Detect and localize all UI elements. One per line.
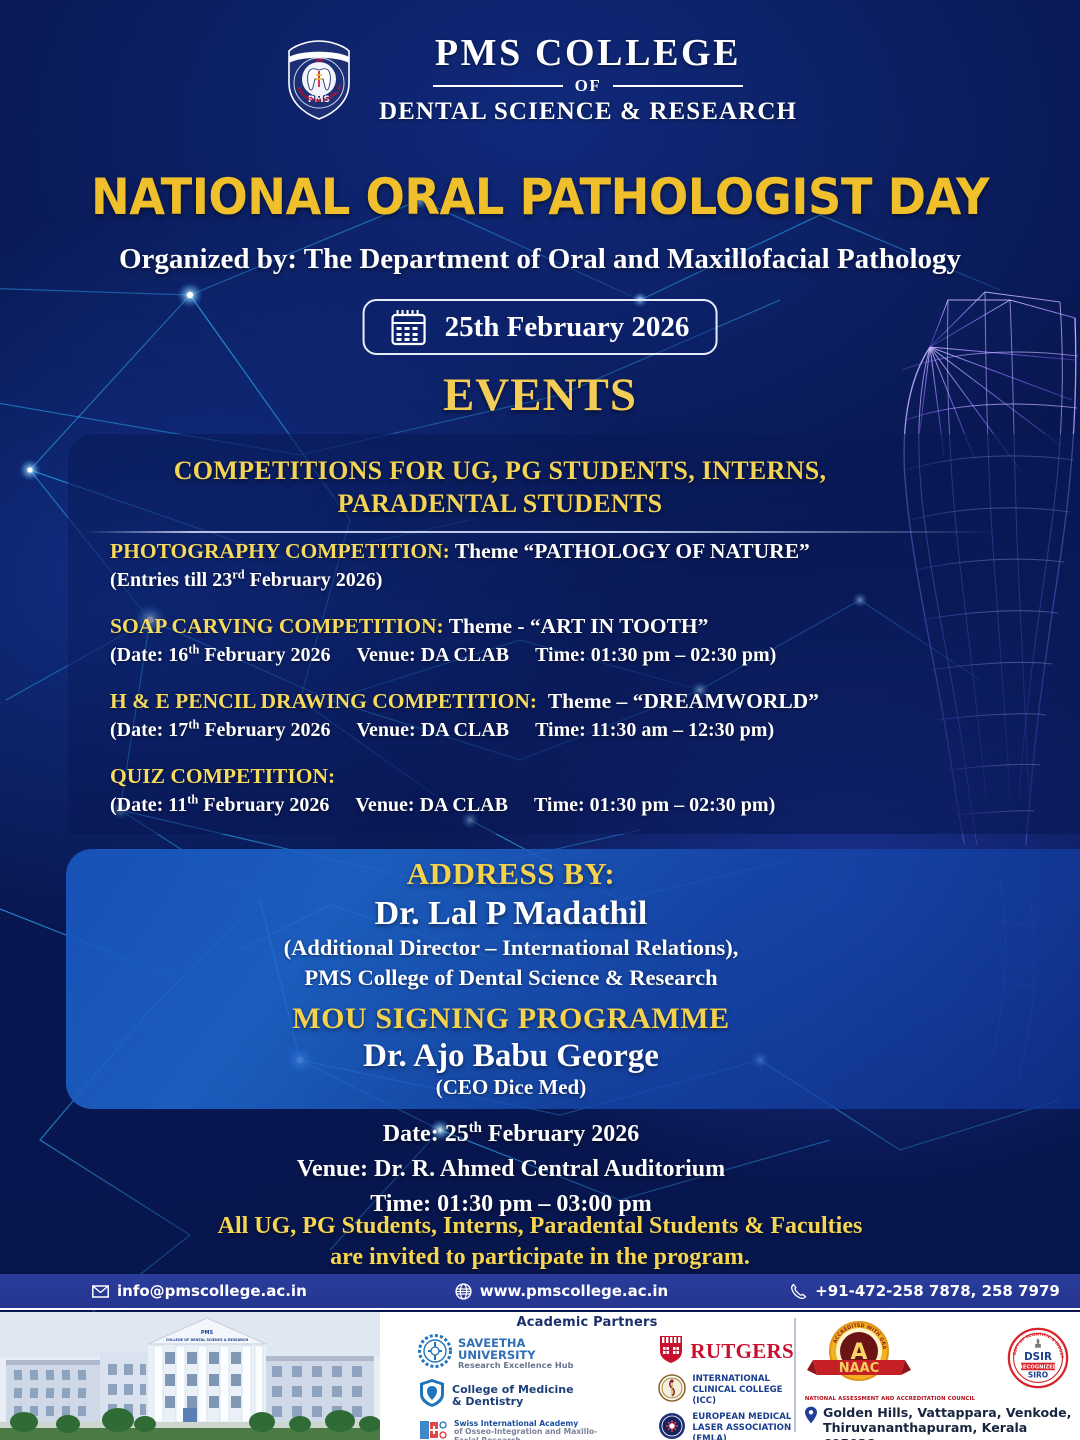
competition-venue: Venue: DA CLAB xyxy=(356,719,509,741)
college-name-line3: DENTAL SCIENCE & RESEARCH xyxy=(379,98,797,126)
competition-meta: (Entries till 23rd February 2026) xyxy=(110,566,1040,595)
competition-date-ordinal: th xyxy=(188,717,199,731)
icc-crest-logo-icon xyxy=(658,1374,686,1407)
competitions-divider xyxy=(84,531,994,533)
competition-date-ordinal: th xyxy=(188,642,199,656)
swiss-international-academy-logo-icon xyxy=(418,1418,448,1440)
partner-cmd-line2: & Dentistry xyxy=(452,1396,574,1408)
contact-email-text: info@pmscollege.ac.in xyxy=(117,1282,307,1300)
competition-date-suffix: February 2026 xyxy=(198,794,329,816)
page-title: NATIONAL ORAL PATHOLOGIST DAY xyxy=(0,168,1080,226)
competition-label: QUIZ COMPETITION: xyxy=(110,764,335,788)
naac-caption: NATIONAL ASSESSMENT AND ACCREDITATION CO… xyxy=(805,1396,975,1402)
list-item: QUIZ COMPETITION: (Date: 11th February 2… xyxy=(110,762,1040,820)
academic-partners-title: Academic Partners xyxy=(380,1312,794,1330)
list-item: PHOTOGRAPHY COMPETITION: Theme “PATHOLOG… xyxy=(110,537,1040,595)
organized-by-text: Organized by: The Department of Oral and… xyxy=(0,243,1080,276)
competitions-subheading-line2: PARADENTAL STUDENTS xyxy=(0,488,1000,521)
competitions-list: PHOTOGRAPHY COMPETITION: Theme “PATHOLOG… xyxy=(110,537,1040,837)
academic-partners-section: Academic Partners SAV xyxy=(380,1312,794,1440)
college-name-line1: PMS COLLEGE xyxy=(379,34,797,74)
svg-text:NAAC: NAAC xyxy=(839,1361,880,1376)
invitation-line1: All UG, PG Students, Interns, Paradental… xyxy=(0,1211,1080,1242)
speaker-affiliation: PMS College of Dental Science & Research xyxy=(0,963,1022,993)
list-item: H & E PENCIL DRAWING COMPETITION: Theme … xyxy=(110,687,1040,745)
svg-text:PMS: PMS xyxy=(201,1330,214,1336)
speaker-designation: (Additional Director – International Rel… xyxy=(0,933,1022,963)
contact-phone[interactable]: +91-472-258 7878, 258 7979 xyxy=(790,1282,1060,1300)
competition-date-suffix: February 2026 xyxy=(199,719,330,741)
competitions-subheading-line1: COMPETITIONS FOR UG, PG STUDENTS, INTERN… xyxy=(0,455,1000,488)
competition-theme: Theme “PATHOLOGY OF NATURE” xyxy=(455,539,810,563)
competition-venue: Venue: DA CLAB xyxy=(356,644,509,666)
phone-icon xyxy=(790,1283,807,1300)
competitions-subheading: COMPETITIONS FOR UG, PG STUDENTS, INTERN… xyxy=(0,455,1000,520)
address-by-content: ADDRESS BY: Dr. Lal P Madathil (Addition… xyxy=(0,856,1022,1100)
contact-email[interactable]: info@pmscollege.ac.in xyxy=(92,1282,307,1300)
contact-phone-text: +91-472-258 7878, 258 7979 xyxy=(815,1282,1060,1300)
program-date: Date: 25th February 2026 xyxy=(0,1117,1022,1152)
competition-label: SOAP CARVING COMPETITION: xyxy=(110,614,444,638)
competition-date-prefix: (Date: 11 xyxy=(110,794,187,816)
competition-label: PHOTOGRAPHY COMPETITION: xyxy=(110,539,450,563)
footer: PMS COLLEGE OF DENTAL SCIENCE & RESEARCH xyxy=(0,1312,1080,1440)
partner-saveetha: SAVEETHA UNIVERSITY Research Excellence … xyxy=(418,1334,604,1373)
event-date-pill: 25th February 2026 xyxy=(363,299,718,355)
events-heading: EVENTS xyxy=(0,368,1080,422)
competition-time: Time: 01:30 pm – 02:30 pm) xyxy=(534,794,775,816)
program-date-prefix: Date: 25 xyxy=(383,1121,469,1147)
globe-icon xyxy=(455,1283,472,1300)
college-name-of-row: OF xyxy=(379,76,797,96)
program-venue: Venue: Dr. R. Ahmed Central Auditorium xyxy=(0,1152,1022,1187)
competition-date-prefix: (Date: 16 xyxy=(110,644,188,666)
invitation-text: All UG, PG Students, Interns, Paradental… xyxy=(0,1211,1080,1273)
competition-date-prefix: (Date: 17 xyxy=(110,719,188,741)
program-date-ordinal: th xyxy=(469,1120,482,1136)
rutgers-shield-logo-icon xyxy=(658,1334,684,1369)
poster-root: प्रज्ञा PMS COLLEGE OF DENTAL SCIENCE & … xyxy=(0,0,1080,1440)
competition-time: Time: 11:30 am – 12:30 pm) xyxy=(535,719,774,741)
program-date-suffix: February 2026 xyxy=(482,1121,639,1147)
calendar-icon xyxy=(391,308,427,346)
naac-badge: A ACCREDITED WITH GRADE NAAC NATIONAL AS… xyxy=(805,1318,975,1402)
college-address-line1: Golden Hills, Vattappara, Venkode, xyxy=(823,1405,1074,1420)
entries-ordinal: rd xyxy=(232,567,244,581)
partner-swiss-international-academy: Swiss International Academy of Osseo-Int… xyxy=(418,1418,604,1440)
competition-theme: Theme - “ART IN TOOTH” xyxy=(449,614,709,638)
dsir-siro-seal-icon: DSIR RECOGNIZED SIRO DEPT OF SCIENTIFIC … xyxy=(1007,1376,1069,1393)
competition-title: QUIZ COMPETITION: xyxy=(110,762,1040,791)
competition-meta: (Date: 11th February 2026Venue: DA CLABT… xyxy=(110,791,1040,820)
competition-meta: (Date: 17th February 2026Venue: DA CLABT… xyxy=(110,716,1040,745)
mou-title: MOU SIGNING PROGRAMME xyxy=(0,1002,1022,1036)
partner-emla: EUROPEAN MEDICAL LASER ASSOCIATION (EMLA… xyxy=(658,1412,794,1440)
partner-rutgers-name: RUTGERS xyxy=(690,1339,794,1364)
partner-cmd-line1: College of Medicine xyxy=(452,1384,574,1396)
partner-icc: INTERNATIONAL CLINICAL COLLEGE (ICC) xyxy=(658,1374,794,1407)
partner-icc-line1: INTERNATIONAL xyxy=(692,1374,794,1385)
competition-venue: Venue: DA CLAB xyxy=(355,794,508,816)
entries-prefix: (Entries till 23 xyxy=(110,569,232,591)
speaker-name: Dr. Lal P Madathil xyxy=(0,895,1022,933)
partner-emla-line1: EUROPEAN MEDICAL xyxy=(692,1412,794,1423)
svg-text:COLLEGE OF DENTAL SCIENCE & RE: COLLEGE OF DENTAL SCIENCE & RESEARCH xyxy=(166,1338,249,1342)
saveetha-university-gear-logo-icon xyxy=(418,1334,452,1373)
accreditation-section: A ACCREDITED WITH GRADE NAAC NATIONAL AS… xyxy=(794,1312,1080,1440)
emla-emblem-logo-icon xyxy=(658,1412,686,1440)
pms-college-campus-building-photo: PMS COLLEGE OF DENTAL SCIENCE & RESEARCH xyxy=(0,1312,380,1440)
location-pin-icon xyxy=(804,1406,818,1429)
college-header: प्रज्ञा PMS COLLEGE OF DENTAL SCIENCE & … xyxy=(0,30,1080,130)
competition-time: Time: 01:30 pm – 02:30 pm) xyxy=(535,644,776,666)
contact-bar: info@pmscollege.ac.in www.pmscollege.ac.… xyxy=(0,1274,1080,1310)
partner-icc-line2: CLINICAL COLLEGE (ICC) xyxy=(692,1385,794,1406)
academic-partners-left-column: SAVEETHA UNIVERSITY Research Excellence … xyxy=(418,1334,604,1440)
competition-title: H & E PENCIL DRAWING COMPETITION: Theme … xyxy=(110,687,1040,716)
svg-text:प्रज्ञा: प्रज्ञा xyxy=(314,58,323,64)
mou-signatory-name: Dr. Ajo Babu George xyxy=(0,1038,1022,1075)
divider-right xyxy=(613,85,743,87)
naac-grade-a-seal-icon: A ACCREDITED WITH GRADE NAAC xyxy=(805,1377,913,1394)
college-address-line2: Thiruvananthapuram, Kerala 695028 xyxy=(823,1420,1074,1440)
academic-partners-right-column: RUTGERS I xyxy=(658,1334,794,1440)
competition-date-suffix: February 2026 xyxy=(199,644,330,666)
partner-saveetha-tagline: Research Excellence Hub xyxy=(458,1361,573,1370)
vertical-divider xyxy=(794,1318,796,1432)
competition-theme: Theme – “DREAMWORLD” xyxy=(548,689,819,713)
contact-website[interactable]: www.pmscollege.ac.in xyxy=(455,1282,668,1300)
invitation-line2: are invited to participate in the progra… xyxy=(0,1242,1080,1273)
competition-meta: (Date: 16th February 2026Venue: DA CLABT… xyxy=(110,641,1040,670)
college-of-medicine-dentistry-shield-logo-icon xyxy=(418,1378,446,1413)
program-details: Date: 25th February 2026 Venue: Dr. R. A… xyxy=(0,1117,1022,1221)
competition-date-ordinal: th xyxy=(187,792,198,806)
list-item: SOAP CARVING COMPETITION: Theme - “ART I… xyxy=(110,612,1040,670)
divider-left xyxy=(433,85,563,87)
dsir-badge: DSIR RECOGNIZED SIRO DEPT OF SCIENTIFIC … xyxy=(1007,1327,1069,1394)
competition-label: H & E PENCIL DRAWING COMPETITION: xyxy=(110,689,537,713)
college-name-of: OF xyxy=(575,76,602,96)
competition-title: PHOTOGRAPHY COMPETITION: Theme “PATHOLOG… xyxy=(110,537,1040,566)
entries-suffix: February 2026) xyxy=(245,569,383,591)
address-by-title: ADDRESS BY: xyxy=(0,856,1022,892)
svg-text:DSIR: DSIR xyxy=(1024,1350,1052,1362)
svg-text:SIRO: SIRO xyxy=(1028,1370,1048,1379)
partner-swiss-line2: of Osseo-Integration and Maxillo-Facial … xyxy=(454,1428,604,1440)
partner-rutgers: RUTGERS xyxy=(658,1334,794,1369)
envelope-icon xyxy=(92,1283,109,1300)
contact-website-text: www.pmscollege.ac.in xyxy=(480,1282,668,1300)
partner-college-medicine-dentistry: College of Medicine & Dentistry xyxy=(418,1378,604,1413)
partner-emla-line2: LASER ASSOCIATION (EMLA) xyxy=(692,1423,794,1440)
event-date-text: 25th February 2026 xyxy=(445,311,690,344)
mou-signatory-designation: (CEO Dice Med) xyxy=(0,1075,1022,1100)
competition-title: SOAP CARVING COMPETITION: Theme - “ART I… xyxy=(110,612,1040,641)
college-address: Golden Hills, Vattappara, Venkode, Thiru… xyxy=(794,1402,1080,1440)
pms-crest-tooth-emblem-icon: प्रज्ञा PMS COLLEGE OF DENTAL SCIENCE & … xyxy=(283,39,355,121)
